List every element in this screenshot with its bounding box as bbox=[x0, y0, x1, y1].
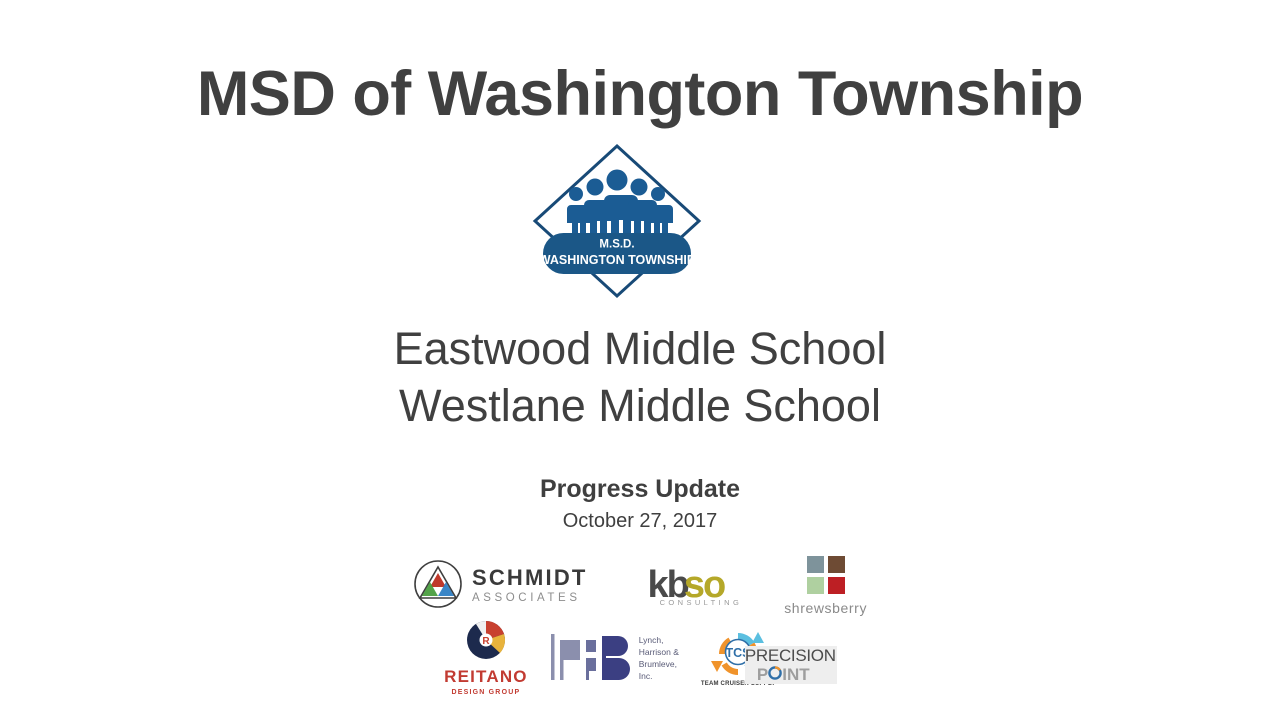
reitano-name: REITANO bbox=[444, 667, 528, 687]
precision-point-line-1: PRECISION bbox=[745, 647, 836, 664]
msd-washington-township-logo: M.S.D. WASHINGTON TOWNSHIP bbox=[531, 142, 703, 300]
progress-update-date: October 27, 2017 bbox=[0, 508, 1280, 534]
svg-text:M.S.D.: M.S.D. bbox=[599, 239, 634, 251]
schmidt-wordmark: SCHMIDT ASSOCIATES bbox=[472, 567, 588, 605]
reitano-design-group-logo: R REITANO DESIGN GROUP bbox=[444, 620, 528, 696]
lynch-harrison-brumleve-logo: Lynch, Harrison & Brumleve, Inc. bbox=[550, 630, 679, 687]
lhb-wordmark: Lynch, Harrison & Brumleve, Inc. bbox=[639, 634, 679, 682]
schmidt-name: SCHMIDT bbox=[472, 567, 588, 589]
page-title: MSD of Washington Township bbox=[0, 58, 1280, 130]
lhb-line-4: Inc. bbox=[639, 670, 679, 682]
partner-logo-row-1: SCHMIDT ASSOCIATES kb so CONSULTING shre… bbox=[0, 556, 1280, 616]
precision-point-o-icon bbox=[768, 666, 782, 683]
partner-logo-row-2: R REITANO DESIGN GROUP bbox=[0, 626, 1280, 690]
lhb-line-1: Lynch, bbox=[639, 634, 679, 646]
precision-point-p: P bbox=[757, 666, 768, 683]
school-name-2: Westlane Middle School bbox=[0, 377, 1280, 434]
lhb-monogram-icon bbox=[550, 630, 632, 687]
shrewsberry-squares-icon bbox=[807, 556, 845, 594]
kbso-subtitle: CONSULTING bbox=[660, 598, 743, 607]
schmidt-associates-logo: SCHMIDT ASSOCIATES bbox=[413, 559, 588, 614]
progress-update-block: Progress Update October 27, 2017 bbox=[0, 474, 1280, 534]
reitano-subtitle: DESIGN GROUP bbox=[451, 689, 520, 696]
tcs-precision-point-logos: TCS TEAM CRUISER SUPPLY PRECISION P INT bbox=[701, 629, 836, 687]
progress-update-heading: Progress Update bbox=[0, 474, 1280, 505]
precision-point-int: INT bbox=[782, 666, 809, 683]
precision-point-logo: PRECISION P INT bbox=[745, 646, 837, 684]
schmidt-subtitle: ASSOCIATES bbox=[472, 593, 588, 605]
presentation-slide: MSD of Washington Township bbox=[0, 0, 1280, 720]
reitano-circle-icon: R bbox=[466, 620, 506, 665]
shrewsberry-name: shrewsberry bbox=[784, 600, 867, 616]
precision-point-line-2: P INT bbox=[757, 666, 810, 683]
school-names: Eastwood Middle School Westlane Middle S… bbox=[0, 320, 1280, 434]
lhb-line-3: Brumleve, bbox=[639, 658, 679, 670]
lhb-line-2: Harrison & bbox=[639, 646, 679, 658]
kbso-consulting-logo: kb so CONSULTING bbox=[630, 566, 743, 607]
schmidt-triangle-icon bbox=[413, 559, 463, 614]
svg-text:R: R bbox=[482, 636, 490, 647]
school-name-1: Eastwood Middle School bbox=[0, 320, 1280, 377]
shrewsberry-logo: shrewsberry bbox=[784, 556, 867, 616]
svg-text:WASHINGTON TOWNSHIP: WASHINGTON TOWNSHIP bbox=[539, 253, 696, 267]
